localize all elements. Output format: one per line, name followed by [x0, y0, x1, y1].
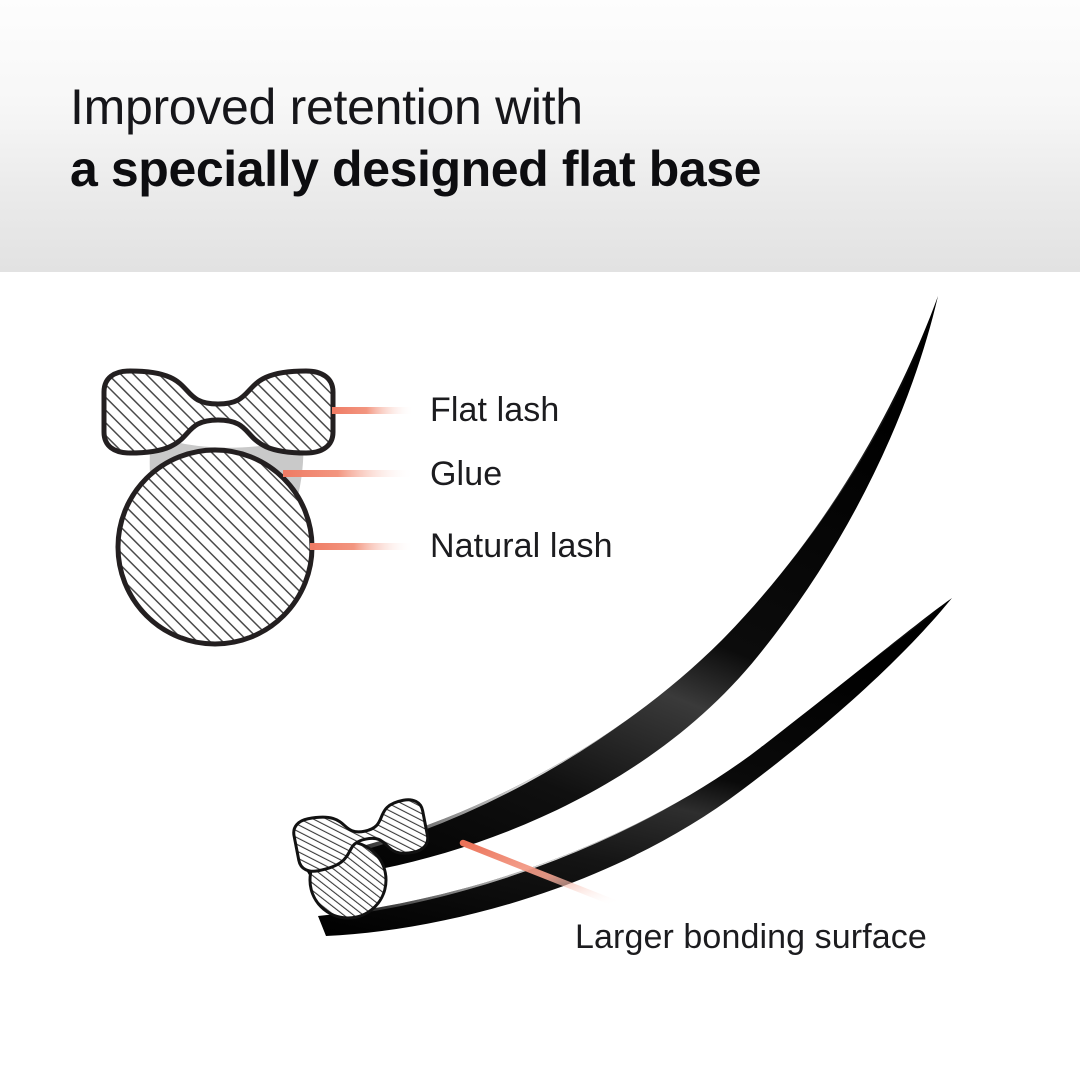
callout-label-flat-lash: Flat lash — [430, 391, 559, 430]
leader-line-flat-lash — [332, 407, 414, 414]
callout-label-bonding-surface: Larger bonding surface — [575, 918, 927, 957]
flat-lash-cross-section — [104, 371, 333, 453]
callout-label-natural-lash: Natural lash — [430, 527, 613, 566]
lash-upper — [300, 296, 938, 880]
leader-line-natural-lash — [310, 543, 414, 550]
lash-upper-highlight — [316, 318, 928, 858]
lash-lower — [318, 598, 952, 936]
natural-lash-cross-section — [118, 450, 312, 644]
leader-line-glue — [283, 470, 414, 477]
product-infographic: Improved retention with a specially desi… — [0, 0, 1080, 1080]
callout-label-glue: Glue — [430, 455, 502, 494]
